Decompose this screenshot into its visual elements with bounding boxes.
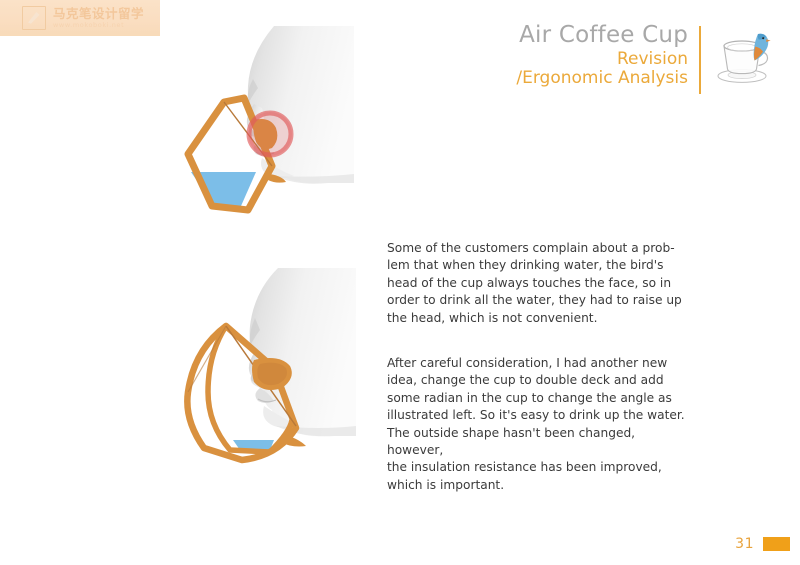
- page-subtitle-1: Revision: [516, 51, 688, 69]
- head-profile: [249, 268, 356, 436]
- illustration-double-deck: [178, 268, 378, 508]
- coffee-cup-with-bird-icon: [712, 26, 774, 93]
- body-paragraph-problem: Some of the customers complain about a p…: [387, 240, 685, 327]
- page-number: 31: [735, 536, 754, 552]
- slide-header: Air Coffee Cup Revision /Ergonomic Analy…: [516, 24, 774, 94]
- logo-url-text: www.mokoboki.net: [53, 22, 144, 29]
- header-title-group: Air Coffee Cup Revision /Ergonomic Analy…: [516, 24, 699, 87]
- page-accent-block: [763, 537, 790, 551]
- illustration-single-deck: [178, 24, 378, 259]
- logo-text: 马克笔设计留学 www.mokoboki.net: [53, 8, 144, 29]
- watermark-logo-banner: 马克笔设计留学 www.mokoboki.net: [0, 0, 160, 36]
- problem-highlight-circle: [248, 112, 292, 156]
- page-subtitle-2: /Ergonomic Analysis: [516, 70, 688, 88]
- header-divider: [699, 26, 701, 94]
- logo-name-cn: 马克笔设计留学: [53, 8, 144, 21]
- body-paragraph-solution: After careful consideration, I had anoth…: [387, 355, 685, 494]
- pen-nib-icon: [22, 6, 46, 30]
- head-profile: [247, 26, 354, 184]
- page-title: Air Coffee Cup: [516, 24, 688, 48]
